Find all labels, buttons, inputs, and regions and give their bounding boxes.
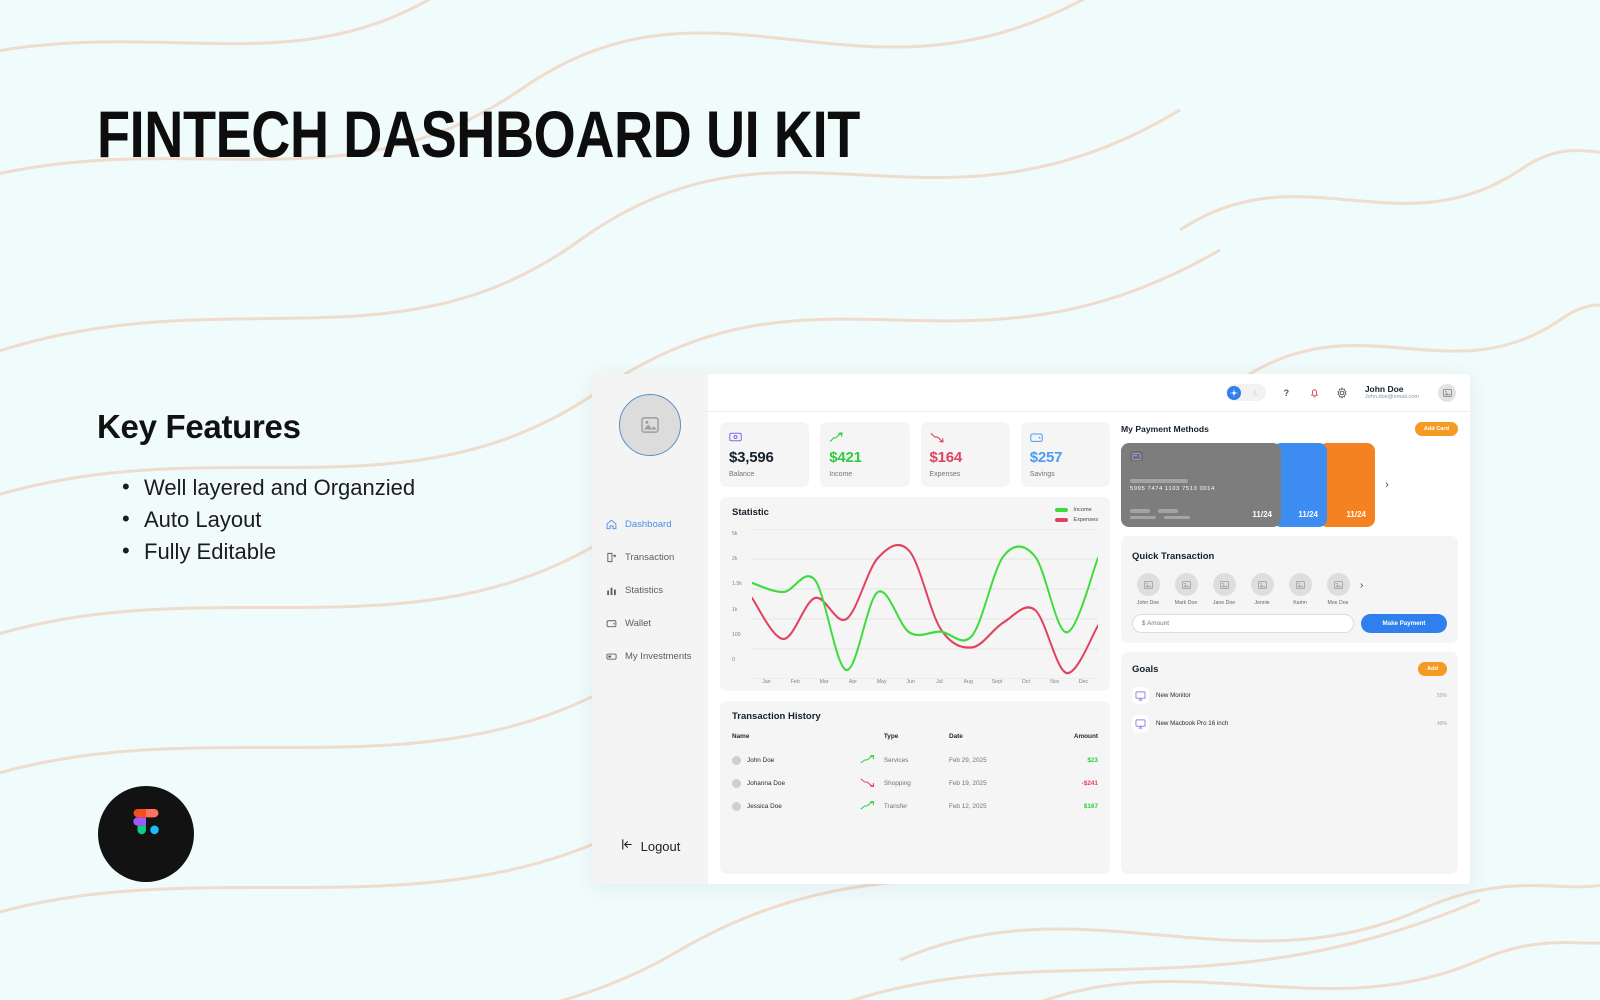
cell-name: Jessica Doe <box>732 795 860 818</box>
make-payment-button[interactable]: Make Payment <box>1361 614 1447 633</box>
figma-glyph-icon <box>129 809 163 859</box>
table-row[interactable]: Johanna DoeShoppingFeb 19, 2025-$241 <box>732 772 1098 795</box>
contact-item[interactable]: Karim <box>1284 573 1316 606</box>
credit-card-third[interactable]: 11/24 <box>1319 443 1375 527</box>
line-chart-svg <box>752 529 1098 679</box>
quick-transaction-title: Quick Transaction <box>1132 551 1214 562</box>
list-item: Well layered and Organzied <box>120 472 580 504</box>
image-placeholder-icon <box>1296 581 1305 589</box>
y-tick: 100 <box>732 632 752 638</box>
contact-name: Moe Doe <box>1327 600 1348 606</box>
logout-label: Logout <box>641 839 681 854</box>
image-placeholder-icon <box>641 417 659 433</box>
wallet-icon <box>606 618 617 629</box>
contact-avatar <box>1327 573 1350 596</box>
goal-item[interactable]: New Macbook Pro 16 inch40% <box>1132 715 1447 732</box>
avatar <box>732 756 741 765</box>
x-tick: Jan <box>752 679 781 685</box>
image-placeholder-icon <box>1258 581 1267 589</box>
gear-icon[interactable] <box>1335 385 1350 400</box>
payment-row: Make Payment <box>1132 614 1447 633</box>
sidebar-item-label: Wallet <box>625 618 651 629</box>
legend-label: Expenses <box>1073 517 1098 523</box>
stat-label: Income <box>829 471 900 478</box>
sidebar-item-transaction[interactable]: Transaction <box>606 541 708 574</box>
contact-name: Jennie <box>1254 600 1269 606</box>
monitor-icon <box>1132 715 1149 732</box>
help-icon[interactable]: ? <box>1279 385 1294 400</box>
avatar <box>732 779 741 788</box>
contact-avatar <box>1137 573 1160 596</box>
left-column: $3,596 Balance $421 Income <box>720 422 1110 874</box>
series-line-income <box>752 546 1098 670</box>
stat-value: $164 <box>930 449 1001 466</box>
user-avatar[interactable] <box>1438 384 1456 402</box>
goal-item[interactable]: New Monitor50% <box>1132 687 1447 704</box>
card-expiry: 11/24 <box>1282 510 1318 519</box>
contact-item[interactable]: John Doe <box>1132 573 1164 606</box>
y-tick: 1.5k <box>732 581 752 587</box>
x-tick: Aug <box>954 679 983 685</box>
avatar <box>732 802 741 811</box>
card-name-placeholder <box>1130 479 1188 483</box>
column-header-amount: Amount <box>1040 733 1098 749</box>
list-item: Auto Layout <box>120 504 580 536</box>
cards-carousel: 5995 7474 1103 7513 0014 <box>1121 443 1458 527</box>
legend-swatch <box>1055 508 1068 512</box>
table-header-row: Name Type Date Amount <box>732 733 1098 749</box>
image-placeholder-icon <box>1443 389 1452 397</box>
legend-item-income: Income <box>1055 507 1091 513</box>
wallet-icon <box>1030 430 1101 444</box>
image-placeholder-icon <box>1334 581 1343 589</box>
trend-up-icon <box>860 749 884 772</box>
column-header-type: Type <box>884 733 949 749</box>
cell-name: Johanna Doe <box>732 772 860 795</box>
stat-card-expenses[interactable]: $164 Expenses <box>921 422 1010 487</box>
topbar: ? John Doe John.doe@email.com <box>708 374 1470 412</box>
table-row[interactable]: John DoeServicesFeb 29, 2025$23 <box>732 749 1098 772</box>
theme-toggle[interactable] <box>1226 384 1266 401</box>
legend-label: Income <box>1073 507 1091 513</box>
user-email: John.doe@email.com <box>1365 394 1419 401</box>
x-tick: Feb <box>781 679 810 685</box>
stat-label: Expenses <box>930 471 1001 478</box>
content: $3,596 Balance $421 Income <box>708 412 1470 884</box>
page-title: FINTECH DASHBOARD UI KIT <box>97 96 860 172</box>
y-tick: 0 <box>732 657 752 663</box>
y-tick: 2k <box>732 556 752 562</box>
y-tick: 1k <box>732 607 752 613</box>
card-chip-icon <box>1130 451 1143 461</box>
column-header-trend <box>860 733 884 749</box>
user-name: John Doe <box>1365 384 1419 395</box>
column-header-date: Date <box>949 733 1040 749</box>
sidebar-item-label: My Investments <box>625 651 692 662</box>
monitor-icon <box>1132 687 1149 704</box>
goal-percent: 40% <box>1437 721 1447 727</box>
payment-methods-header: My Payment Methods Add Card <box>1121 422 1458 436</box>
cell-type: Shopping <box>884 772 949 795</box>
x-tick: Mar <box>810 679 839 685</box>
sidebar-nav: Dashboard Transaction Statistics Wallet <box>592 508 708 673</box>
transaction-table: Name Type Date Amount John DoeServicesFe… <box>732 733 1098 818</box>
contact-name: Karim <box>1293 600 1307 606</box>
card-label-placeholder <box>1130 509 1150 513</box>
contact-item[interactable]: Jane Doe <box>1208 573 1240 606</box>
add-goal-button[interactable]: Add <box>1418 662 1447 676</box>
transaction-rows: John DoeServicesFeb 29, 2025$23Johanna D… <box>732 749 1098 818</box>
trend-down-icon <box>860 772 884 795</box>
x-tick: Nov <box>1040 679 1069 685</box>
bell-icon[interactable] <box>1307 385 1322 400</box>
cell-date: Feb 12, 2025 <box>949 795 1040 818</box>
y-tick: 5k <box>732 531 752 537</box>
sun-icon <box>1227 386 1241 400</box>
card-label-placeholder <box>1158 509 1178 513</box>
stat-value: $421 <box>829 449 900 466</box>
logout-button[interactable]: Logout <box>592 838 708 854</box>
goals-list: New Monitor50%New Macbook Pro 16 inch40% <box>1132 687 1447 732</box>
bar-chart-icon <box>606 585 617 596</box>
sidebar-item-label: Statistics <box>625 585 663 596</box>
payment-methods-card: My Payment Methods Add Card <box>1121 422 1458 527</box>
cell-name: John Doe <box>732 749 860 772</box>
statistic-card: Statistic Income Expenses <box>720 497 1110 691</box>
cell-date: Feb 19, 2025 <box>949 772 1040 795</box>
cell-type: Services <box>884 749 949 772</box>
chevron-right-icon[interactable]: › <box>1381 479 1393 491</box>
x-tick: May <box>867 679 896 685</box>
contact-avatar <box>1213 573 1236 596</box>
x-tick: Jun <box>896 679 925 685</box>
sidebar-item-label: Dashboard <box>625 519 671 530</box>
contact-avatar <box>1289 573 1312 596</box>
chart-area: 5k 2k 1.5k 1k 100 0 <box>732 529 1098 679</box>
goal-name: New Macbook Pro 16 inch <box>1156 720 1228 727</box>
user-info[interactable]: John Doe John.doe@email.com <box>1365 384 1419 402</box>
card-value-placeholder <box>1164 516 1190 520</box>
sidebar-item-wallet[interactable]: Wallet <box>606 607 708 640</box>
cell-date: Feb 29, 2025 <box>949 749 1040 772</box>
statistic-header: Statistic Income Expenses <box>732 507 1098 523</box>
cash-icon <box>729 430 800 444</box>
contact-name: John Doe <box>1137 600 1159 606</box>
home-icon <box>606 519 617 530</box>
transaction-history-title: Transaction History <box>732 711 1098 722</box>
stat-cards: $3,596 Balance $421 Income <box>720 422 1110 487</box>
stat-value: $3,596 <box>729 449 800 466</box>
goals-card: Goals Add New Monitor50%New Macbook Pro … <box>1121 652 1458 874</box>
sidebar-item-statistics[interactable]: Statistics <box>606 574 708 607</box>
cell-amount: -$241 <box>1040 772 1098 795</box>
series-line-expenses <box>752 545 1098 673</box>
card-expiry: 11/24 <box>1328 510 1366 519</box>
stat-card-balance[interactable]: $3,596 Balance <box>720 422 809 487</box>
card-expiry: 11/24 <box>1252 510 1272 519</box>
sidebar: Dashboard Transaction Statistics Wallet <box>592 374 708 884</box>
amount-input[interactable] <box>1132 614 1354 633</box>
chart-gridlines <box>752 529 1098 679</box>
sidebar-item-my-investments[interactable]: My Investments <box>606 640 708 673</box>
payment-methods-title: My Payment Methods <box>1121 424 1209 434</box>
trend-up-icon <box>829 430 900 444</box>
avatar[interactable] <box>619 394 681 456</box>
sidebar-item-dashboard[interactable]: Dashboard <box>606 508 708 541</box>
sidebar-item-label: Transaction <box>625 552 674 563</box>
contact-avatar <box>1175 573 1198 596</box>
image-placeholder-icon <box>1220 581 1229 589</box>
trend-down-icon <box>930 430 1001 444</box>
quick-transaction-card: Quick Transaction John DoeMark DoeJane D… <box>1121 536 1458 643</box>
goal-name: New Monitor <box>1156 692 1191 699</box>
image-placeholder-icon <box>1182 581 1191 589</box>
x-tick: Apr <box>838 679 867 685</box>
goals-header: Goals Add <box>1132 662 1447 676</box>
cell-amount: $23 <box>1040 749 1098 772</box>
transaction-icon <box>606 552 617 563</box>
right-column: My Payment Methods Add Card <box>1121 422 1458 874</box>
main-area: ? John Doe John.doe@email.com <box>708 374 1470 884</box>
chevron-right-icon[interactable]: › <box>1360 580 1363 599</box>
legend-item-expenses: Expenses <box>1055 517 1098 523</box>
contact-item[interactable]: Jennie <box>1246 573 1278 606</box>
card-number: 5995 7474 1103 7513 0014 <box>1130 486 1272 492</box>
card-value-placeholder <box>1130 516 1156 520</box>
contact-name: Jane Doe <box>1213 600 1235 606</box>
x-tick: Jul <box>925 679 954 685</box>
chart-y-axis: 5k 2k 1.5k 1k 100 0 <box>732 529 752 679</box>
goals-title: Goals <box>1132 664 1158 675</box>
chart-x-axis: JanFebMarAprMayJunJulAugSeptOctNovDec <box>732 679 1098 685</box>
trend-up-icon <box>860 795 884 818</box>
x-tick: Oct <box>1011 679 1040 685</box>
figma-logo <box>98 786 194 882</box>
goal-percent: 50% <box>1437 693 1447 699</box>
add-card-button[interactable]: Add Card <box>1415 422 1458 436</box>
dashboard-window: Dashboard Transaction Statistics Wallet <box>592 374 1470 884</box>
list-item: Fully Editable <box>120 536 580 568</box>
contact-item[interactable]: Moe Doe <box>1322 573 1354 606</box>
contacts-row: John DoeMark DoeJane DoeJennieKarimMoe D… <box>1132 573 1447 606</box>
credit-card-primary[interactable]: 5995 7474 1103 7513 0014 <box>1121 443 1281 527</box>
table-row[interactable]: Jessica DoeTransferFeb 12, 2025$167 <box>732 795 1098 818</box>
legend-swatch <box>1055 518 1068 522</box>
moon-icon <box>1253 384 1261 402</box>
stat-card-income[interactable]: $421 Income <box>820 422 909 487</box>
contact-name: Mark Doe <box>1175 600 1198 606</box>
stat-label: Savings <box>1030 471 1101 478</box>
chart-legend: Income Expenses <box>1055 507 1098 523</box>
statistic-title: Statistic <box>732 507 769 518</box>
key-features-heading: Key Features <box>97 408 301 446</box>
cell-type: Transfer <box>884 795 949 818</box>
contact-avatar <box>1251 573 1274 596</box>
x-tick: Sept <box>983 679 1012 685</box>
image-placeholder-icon <box>1144 581 1153 589</box>
stat-card-savings[interactable]: $257 Savings <box>1021 422 1110 487</box>
credit-card-second[interactable]: 11/24 <box>1273 443 1327 527</box>
transaction-history-card: Transaction History Name Type Date Amoun… <box>720 701 1110 874</box>
chart-plot <box>752 529 1098 679</box>
x-tick: Dec <box>1069 679 1098 685</box>
stat-label: Balance <box>729 471 800 478</box>
column-header-name: Name <box>732 733 860 749</box>
contact-item[interactable]: Mark Doe <box>1170 573 1202 606</box>
key-features-list: Well layered and Organzied Auto Layout F… <box>120 472 580 568</box>
investments-icon <box>606 651 617 662</box>
cell-amount: $167 <box>1040 795 1098 818</box>
logout-icon <box>620 838 633 854</box>
stat-value: $257 <box>1030 449 1101 466</box>
